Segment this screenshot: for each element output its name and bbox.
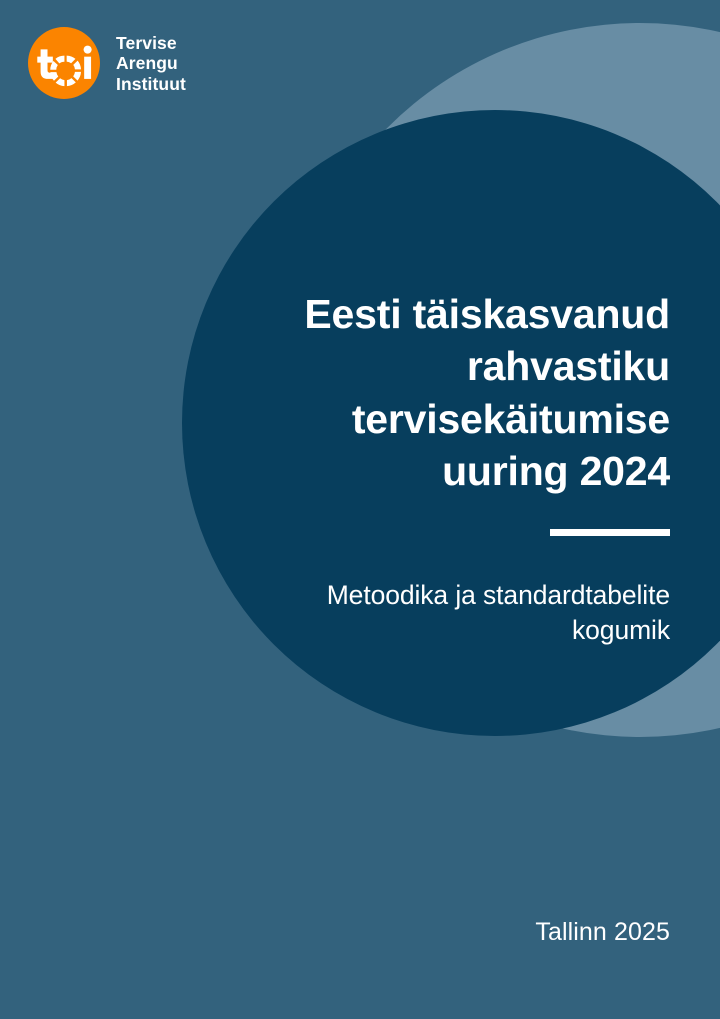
document-cover: Tervise Arengu Instituut Eesti täiskasva…: [0, 0, 720, 1019]
organization-name-line-2: Arengu: [116, 53, 186, 73]
document-title: Eesti täiskasvanud rahvastiku tervisekäi…: [200, 288, 670, 498]
document-title-line-2: rahvastiku: [467, 343, 670, 389]
organization-name: Tervise Arengu Instituut: [116, 27, 186, 94]
document-subtitle-line-2: kogumik: [572, 615, 670, 645]
organization-logo: Tervise Arengu Instituut: [28, 27, 186, 99]
organization-name-line-3: Instituut: [116, 74, 186, 94]
publication-place-year: Tallinn 2025: [535, 918, 670, 947]
organization-name-line-1: Tervise: [116, 33, 186, 53]
document-subtitle: Metoodika ja standardtabelite kogumik: [200, 536, 670, 648]
cover-title-block: Eesti täiskasvanud rahvastiku tervisekäi…: [200, 288, 670, 648]
document-title-line-3: tervisekäitumise: [352, 396, 670, 442]
document-title-line-4: uuring 2024: [442, 448, 670, 494]
document-title-line-1: Eesti täiskasvanud: [304, 291, 670, 337]
document-subtitle-line-1: Metoodika ja standardtabelite: [327, 580, 670, 610]
title-divider-rule: [550, 529, 670, 536]
tai-logo-icon: [28, 27, 100, 99]
